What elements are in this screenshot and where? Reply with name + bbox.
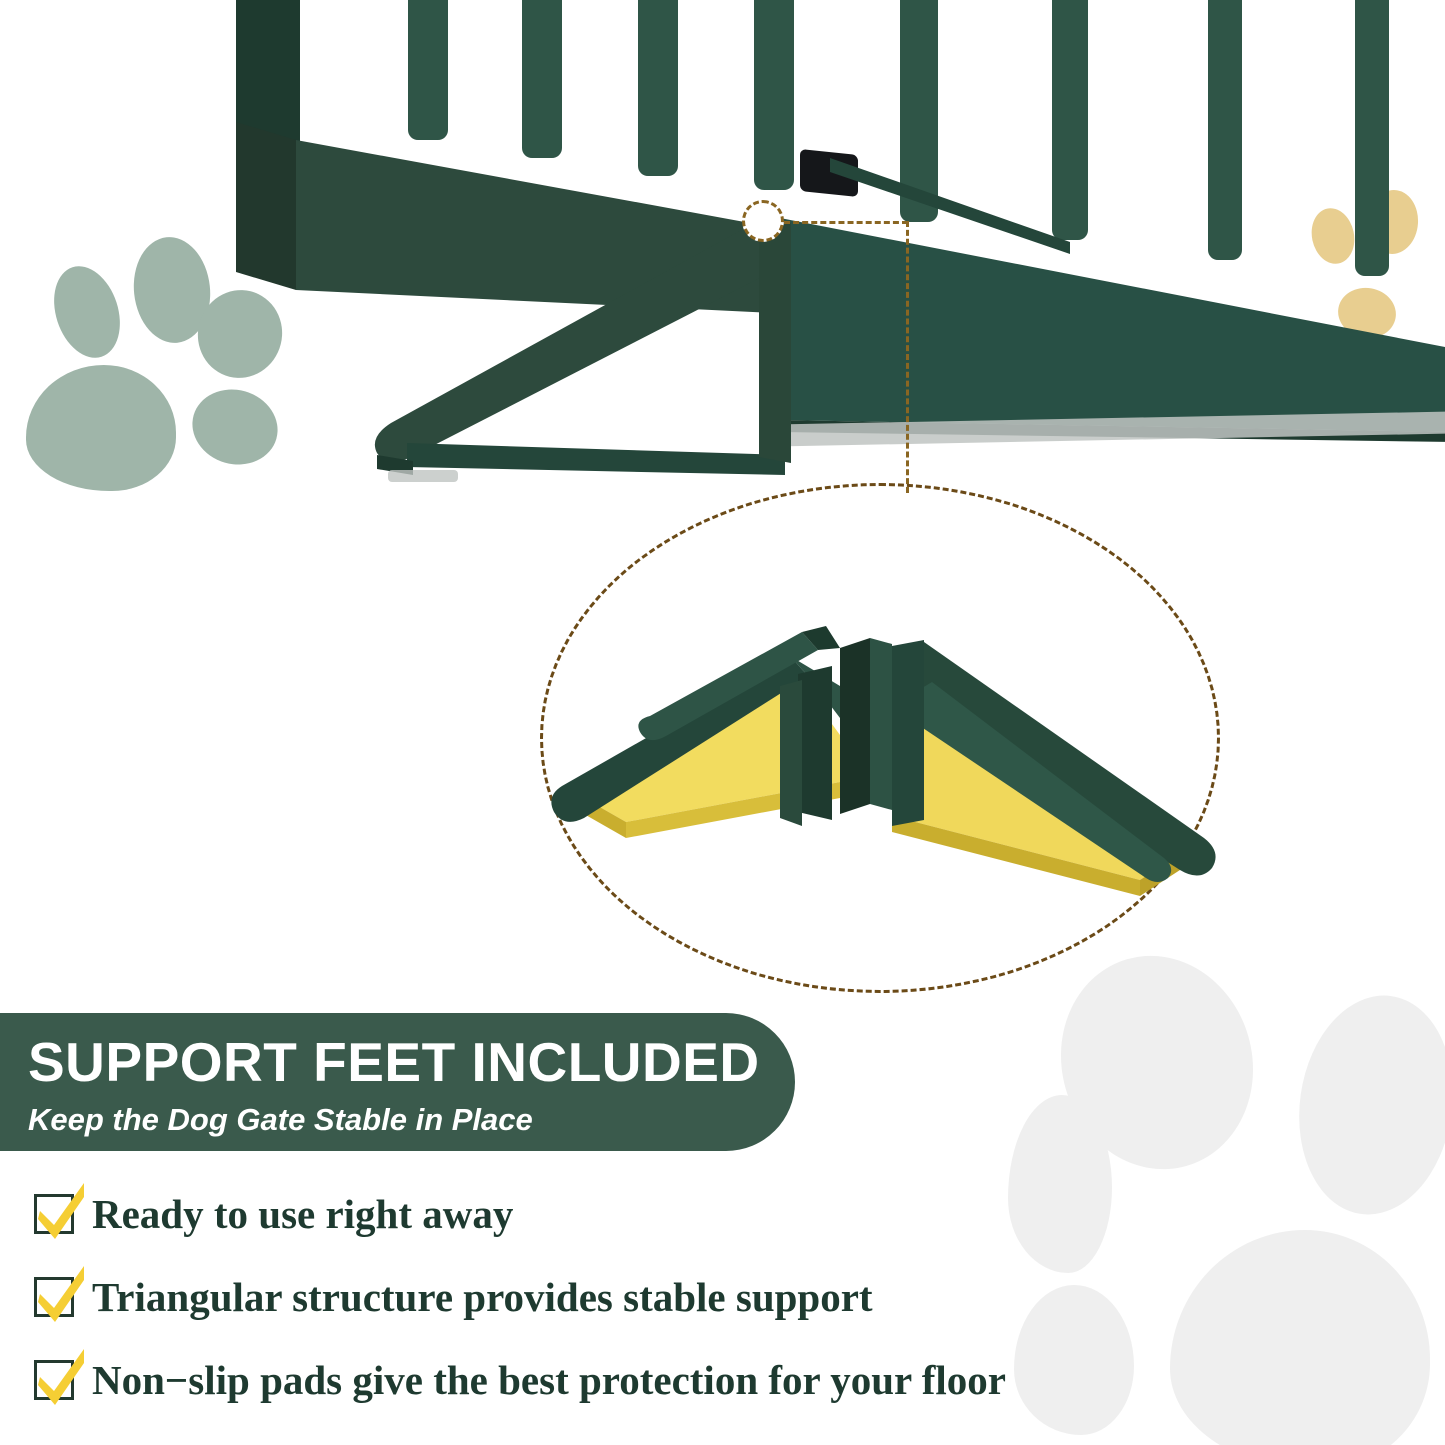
checkbox-checked-icon [34,1360,74,1400]
list-item: Non−slip pads give the best protection f… [34,1344,1374,1416]
checkbox-checked-icon [34,1194,74,1234]
list-item: Triangular structure provides stable sup… [34,1261,1374,1333]
callout-marker-icon [742,200,784,242]
gate-support-foot-installed [355,205,815,495]
banner-title: SUPPORT FEET INCLUDED [28,1035,795,1090]
checkbox-checked-icon [34,1277,74,1317]
feature-list: Ready to use right away Triangular struc… [34,1178,1374,1427]
support-foot-zoom-illustration [540,590,1230,920]
list-item: Ready to use right away [34,1178,1374,1250]
feature-banner: SUPPORT FEET INCLUDED Keep the Dog Gate … [0,1013,795,1151]
list-item-label: Ready to use right away [92,1194,513,1235]
list-item-label: Triangular structure provides stable sup… [92,1277,873,1318]
gate-foot-shadow [388,470,458,482]
callout-leader-vertical [906,221,909,493]
infographic-page: SUPPORT FEET INCLUDED Keep the Dog Gate … [0,0,1445,1445]
banner-subtitle: Keep the Dog Gate Stable in Place [28,1102,795,1138]
callout-leader-horizontal [784,221,908,224]
list-item-label: Non−slip pads give the best protection f… [92,1360,1006,1401]
